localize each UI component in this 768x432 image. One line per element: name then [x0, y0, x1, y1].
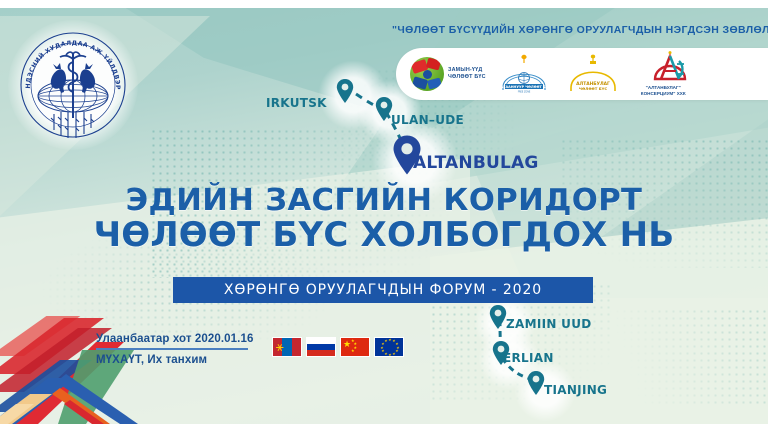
- soyombo-symbol: ⚹: [276, 341, 280, 357]
- bottom-white-strip: [0, 424, 768, 432]
- map-label-erlian: ERLIAN: [503, 351, 554, 365]
- main-title-block: ЭДИЙН ЗАСГИЙН КОРИДОРТ ЧӨЛӨӨТ БҮС ХОЛБОГ…: [0, 186, 768, 253]
- sponsor-altanbulag-free-zone: АЛТАНБУЛАГ ЧӨЛӨӨТ БҮС: [553, 52, 621, 96]
- map-label-tianjing: TIANJING: [544, 383, 607, 397]
- sponsor-zamyn-uud-free-zone: ЗАМЫН-ҮҮД ЧӨЛӨӨТ БҮС: [396, 52, 486, 96]
- map-pin-zamiin-uud[interactable]: [489, 304, 507, 330]
- sponsor-tsagaannuur-free-zone: ЦАГААННУУР ЧӨЛӨӨТ БҮС FREE ZONE: [486, 52, 553, 96]
- svg-text:ЦАГААННУУР ЧӨЛӨӨТ БҮС: ЦАГААННУУР ЧӨЛӨӨТ БҮС: [498, 85, 550, 89]
- forum-ribbon: ХӨРӨНГӨ ОРУУЛАГЧДЫН ФОРУМ - 2020: [173, 277, 593, 303]
- event-venue: МҮХАҮТ, Их танхим: [96, 354, 253, 366]
- top-white-strip: [0, 0, 768, 8]
- title-line-1: ЭДИЙН ЗАСГИЙН КОРИДОРТ: [0, 186, 768, 217]
- sponsor-4-line2: КОНСЕРЦИУМ" ХХК: [641, 91, 686, 97]
- flag-mongolia: ⚹: [272, 337, 302, 357]
- ribbon-label: ХӨРӨНГӨ ОРУУЛАГЧДЫН ФОРУМ - 2020: [173, 277, 593, 303]
- info-divider: [96, 348, 248, 350]
- council-title: "ЧӨЛӨӨТ БҮСҮҮДИЙН ХӨРӨНГӨ ОРУУЛАГЧДЫН НЭ…: [392, 24, 764, 36]
- altanbulag-ger-icon: АЛТАНБУЛАГ ЧӨЛӨӨТ БҮС: [567, 54, 619, 94]
- china-big-star: ★: [343, 340, 351, 349]
- altanbulag-consortium-monogram-icon: [651, 51, 689, 85]
- tsagaannuur-ger-icon: ЦАГААННУУР ЧӨЛӨӨТ БҮС FREE ZONE: [498, 54, 550, 94]
- map-pin-tianjing[interactable]: [527, 370, 545, 396]
- map-label-irkutsk: IRKUTSK: [266, 96, 327, 110]
- chamber-of-commerce-emblem: МОНГОЛЫН ҮНДЭСНИЙ ХУДАЛДАА АЖ ҮЙЛДВЭРИЙН…: [14, 26, 132, 144]
- sponsor-1-line2: ЧӨЛӨӨТ БҮС: [448, 74, 486, 81]
- map-label-altanbulag: ALTANBULAG: [413, 153, 539, 173]
- participating-country-flags: ⚹ ★ ★ ★ ★ ★ ★★ ★★ ★★ ★★ ★★ ★★: [272, 337, 404, 357]
- svg-text:ЧӨЛӨӨТ БҮС: ЧӨЛӨӨТ БҮС: [579, 86, 607, 91]
- sponsor-altanbulag-consortium: "АЛТАНБУЛАГ" КОНСЕРЦИУМ" ХХК: [621, 52, 700, 96]
- map-pin-irkutsk[interactable]: [336, 78, 354, 104]
- flag-russia: [306, 337, 336, 357]
- flag-china: ★ ★ ★ ★ ★: [340, 337, 370, 357]
- flag-european-union: ★★ ★★ ★★ ★★ ★★ ★★: [374, 337, 404, 357]
- map-label-zamiin-uud: ZAMIIN UUD: [506, 317, 592, 331]
- eu-star-circle: ★★ ★★ ★★ ★★ ★★ ★★: [381, 339, 397, 355]
- sponsor-1-line1: ЗАМЫН-ҮҮД: [448, 67, 486, 74]
- svg-text:FREE ZONE: FREE ZONE: [517, 91, 530, 94]
- map-label-ulan-ude: ULAN–UDE: [391, 113, 464, 127]
- zamyn-uud-globe-icon: [410, 57, 444, 91]
- sponsor-logo-bar: ЗАМЫН-ҮҮД ЧӨЛӨӨТ БҮС ЦАГААННУУР Ч: [396, 48, 768, 100]
- event-location-date: Улаанбаатар хот 2020.01.16: [96, 333, 253, 345]
- halftone-dots-bottom-right: [600, 308, 768, 408]
- event-info-block: Улаанбаатар хот 2020.01.16 МҮХАҮТ, Их та…: [96, 333, 253, 366]
- poster-canvas: "ЧӨЛӨӨТ БҮСҮҮДИЙН ХӨРӨНГӨ ОРУУЛАГЧДЫН НЭ…: [0, 0, 768, 432]
- title-line-2: ЧӨЛӨӨТ БҮС ХОЛБОГДОХ НЬ: [0, 218, 768, 253]
